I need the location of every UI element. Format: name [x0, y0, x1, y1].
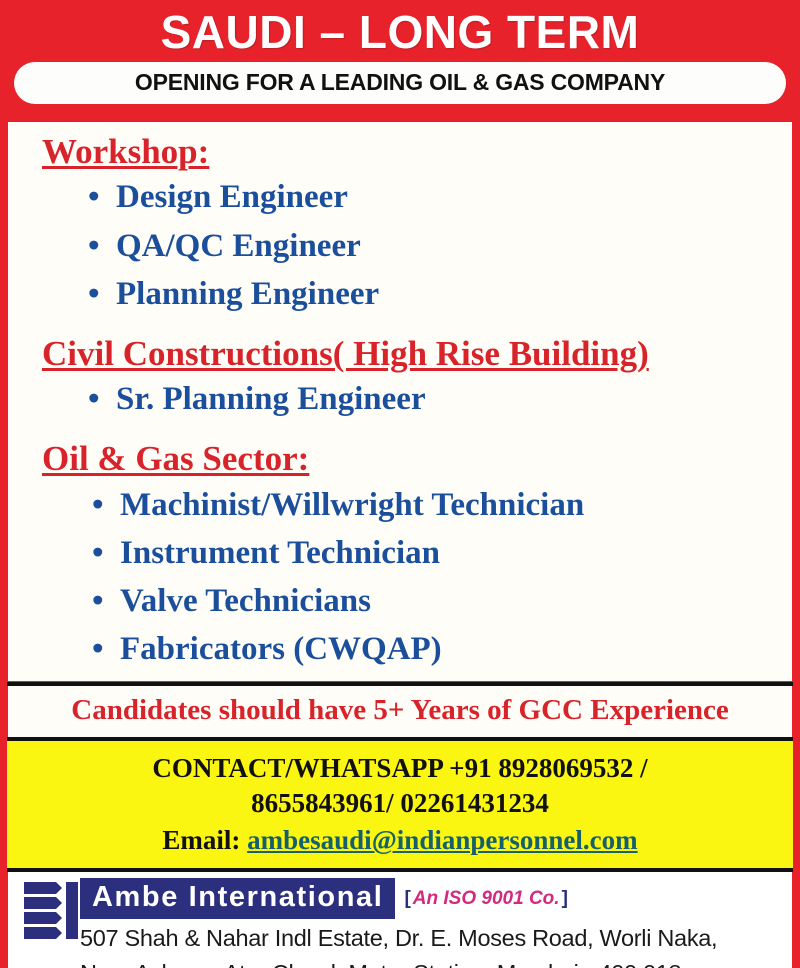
- company-name: Ambe International: [92, 881, 383, 913]
- list-item: Sr. Planning Engineer: [8, 375, 792, 423]
- job-listings-card: Workshop: Design Engineer QA/QC Engineer…: [7, 121, 793, 682]
- poster-header: SAUDI – LONG TERM OPENING FOR A LEADING …: [0, 0, 800, 114]
- address-line-1: 507 Shah & Nahar Indl Estate, Dr. E. Mos…: [80, 923, 782, 954]
- spacer: [8, 425, 792, 439]
- list-item: Machinist/Willwright Technician: [8, 481, 792, 529]
- header-subtitle-wrap: OPENING FOR A LEADING OIL & GAS COMPANY: [0, 56, 800, 104]
- list-item: Valve Technicians: [8, 577, 792, 625]
- section-civil-constructions: Civil Constructions( High Rise Building)…: [8, 334, 792, 425]
- iso-bracket-open: [: [404, 888, 410, 909]
- footer-text-block: Ambe International [An ISO 9001 Co.] 507…: [80, 878, 792, 968]
- list-item: Fabricators (CWQAP): [8, 625, 792, 673]
- list-item: Design Engineer: [8, 173, 792, 221]
- header-subtitle-pill: OPENING FOR A LEADING OIL & GAS COMPANY: [14, 62, 786, 104]
- address-line-2: Near Acharya Atre Chowk Metro Station, M…: [80, 958, 782, 968]
- section-heading-oil-gas-sector: Oil & Gas Sector:: [8, 439, 792, 478]
- ambe-logo-icon: [8, 878, 80, 942]
- brand-row: Ambe International [An ISO 9001 Co.]: [80, 878, 782, 919]
- list-item: QA/QC Engineer: [8, 222, 792, 270]
- email-address-link[interactable]: ambesaudi@indianpersonnel.com: [247, 825, 637, 855]
- section-workshop: Workshop: Design Engineer QA/QC Engineer…: [8, 132, 792, 320]
- experience-requirement-text: Candidates should have 5+ Years of GCC E…: [12, 694, 788, 727]
- iso-text: An ISO 9001 Co.: [411, 888, 562, 909]
- page-title: SAUDI – LONG TERM: [0, 8, 800, 56]
- list-item: Planning Engineer: [8, 270, 792, 318]
- section-heading-civil-constructions: Civil Constructions( High Rise Building): [8, 334, 792, 373]
- contact-email-line: Email: ambesaudi@indianpersonnel.com: [13, 825, 787, 856]
- contact-phone-line-1[interactable]: CONTACT/WHATSAPP +91 8928069532 /: [13, 751, 787, 786]
- job-list-oil-gas-sector: Machinist/Willwright Technician Instrume…: [8, 481, 792, 674]
- job-list-workshop: Design Engineer QA/QC Engineer Planning …: [8, 173, 792, 318]
- section-heading-workshop: Workshop:: [8, 132, 792, 171]
- footer: Ambe International [An ISO 9001 Co.] 507…: [7, 872, 793, 968]
- job-advertisement-poster: SAUDI – LONG TERM OPENING FOR A LEADING …: [0, 0, 800, 968]
- spacer: [8, 320, 792, 334]
- contact-band: CONTACT/WHATSAPP +91 8928069532 / 865584…: [7, 741, 793, 868]
- iso-certification-badge: [An ISO 9001 Co.]: [404, 888, 567, 910]
- experience-requirement-band: Candidates should have 5+ Years of GCC E…: [7, 686, 793, 737]
- header-subtitle: OPENING FOR A LEADING OIL & GAS COMPANY: [24, 69, 776, 96]
- list-item: Instrument Technician: [8, 529, 792, 577]
- iso-bracket-close: ]: [562, 888, 568, 909]
- email-label: Email:: [162, 825, 240, 855]
- brand-bar: Ambe International: [80, 878, 395, 919]
- job-list-civil-constructions: Sr. Planning Engineer: [8, 375, 792, 423]
- section-oil-gas-sector: Oil & Gas Sector: Machinist/Willwright T…: [8, 439, 792, 675]
- contact-phone-line-2[interactable]: 8655843961/ 02261431234: [13, 786, 787, 821]
